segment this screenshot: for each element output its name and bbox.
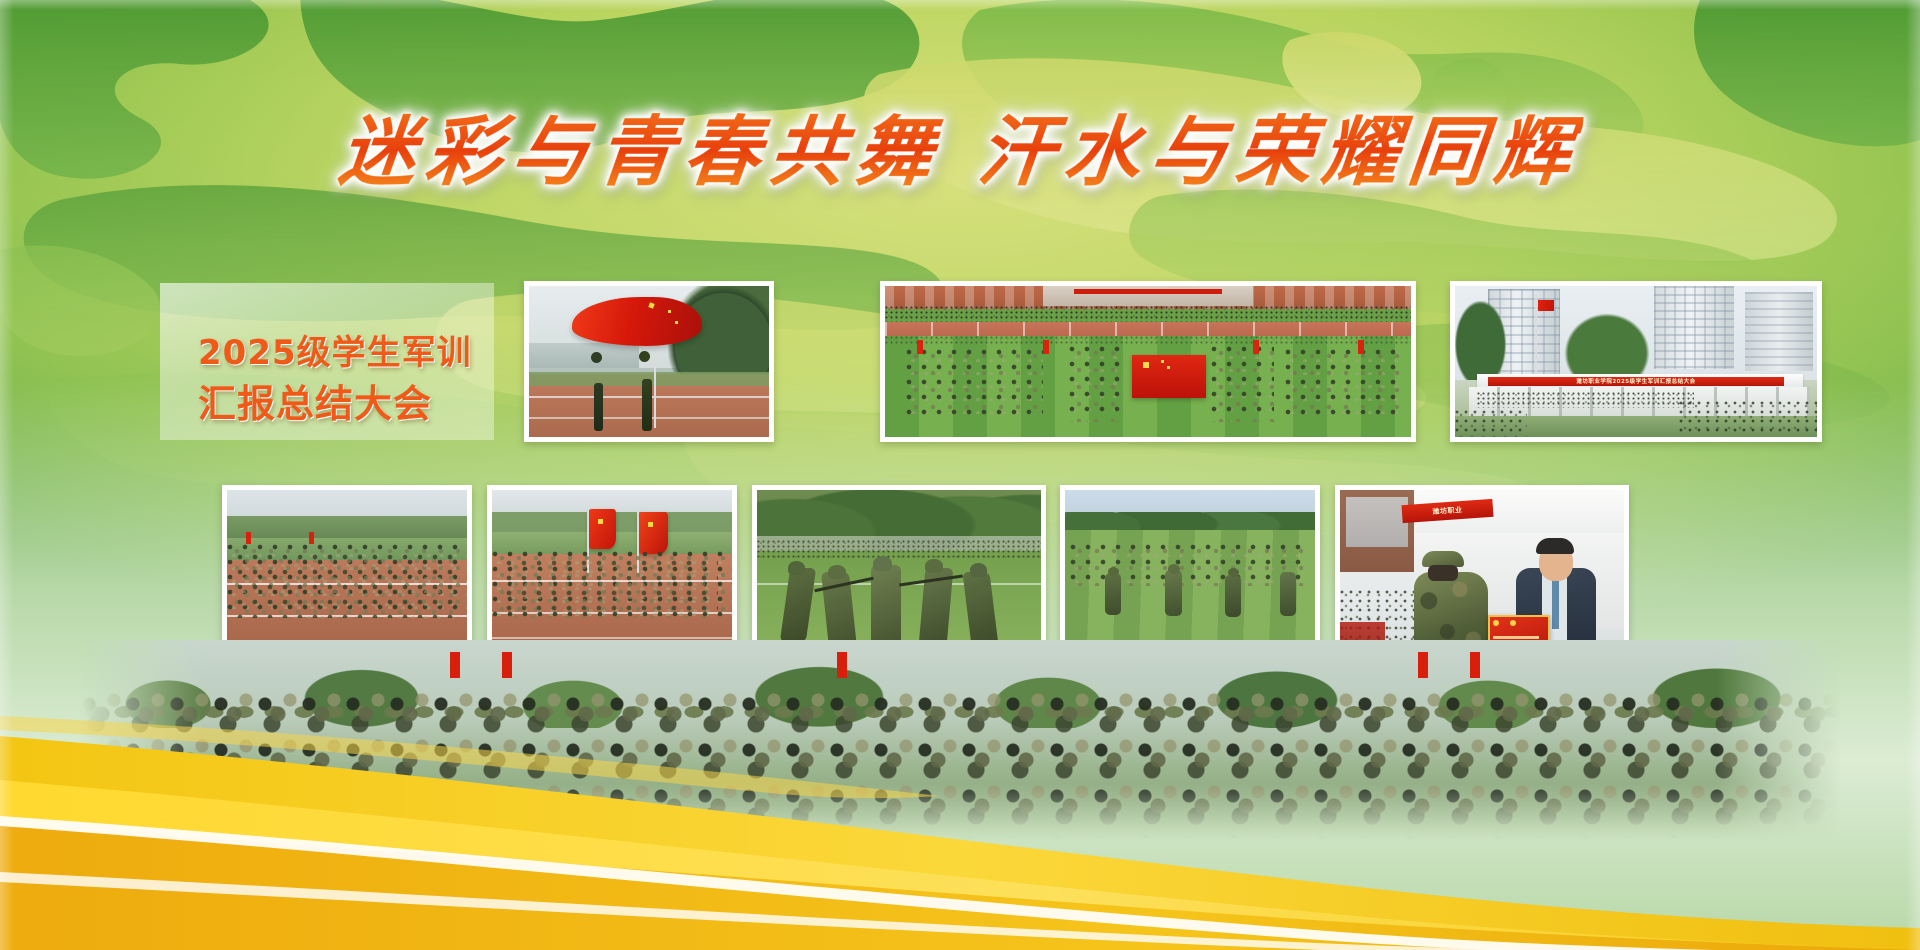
panorama-flag-1 xyxy=(450,652,460,678)
panorama-flag-4 xyxy=(1418,652,1428,678)
panorama-flag-5 xyxy=(1470,652,1480,678)
photo-formation-overview-image xyxy=(885,286,1411,437)
photo-flag-team-image xyxy=(492,490,732,650)
panorama-flag-3 xyxy=(837,652,847,678)
caption-line-2: 汇报总结大会 xyxy=(198,373,432,428)
panorama-flag-2 xyxy=(502,652,512,678)
caption-card: 2025级学生军训 汇报总结大会 xyxy=(160,283,494,440)
photo-field-drill-image xyxy=(1065,490,1315,650)
photo-flag-team[interactable] xyxy=(487,485,737,655)
stage-banner-text: 潍坊职业学院2025级学生军训汇报总结大会 xyxy=(1488,377,1785,386)
photo-flag-raising[interactable] xyxy=(524,281,774,442)
panorama-saluting-formation[interactable] xyxy=(80,640,1840,840)
photo-ceremony-stage-image: 潍坊职业学院2025级学生军训汇报总结大会 xyxy=(1455,286,1817,437)
panorama-fade xyxy=(80,806,1840,840)
photo-field-drill[interactable] xyxy=(1060,485,1320,655)
photo-flag-raising-image xyxy=(529,286,769,437)
photo-marching-track-image xyxy=(227,490,467,650)
photo-ceremony-stage[interactable]: 潍坊职业学院2025级学生军训汇报总结大会 xyxy=(1450,281,1822,442)
banner-poster: 迷彩与青春共舞 汗水与荣耀同辉 2025级学生军训 汇报总结大会 xyxy=(0,0,1920,950)
photo-formation-overview[interactable] xyxy=(880,281,1416,442)
photo-marching-track[interactable] xyxy=(222,485,472,655)
caption-line-1: 2025级学生军训 xyxy=(198,325,472,374)
